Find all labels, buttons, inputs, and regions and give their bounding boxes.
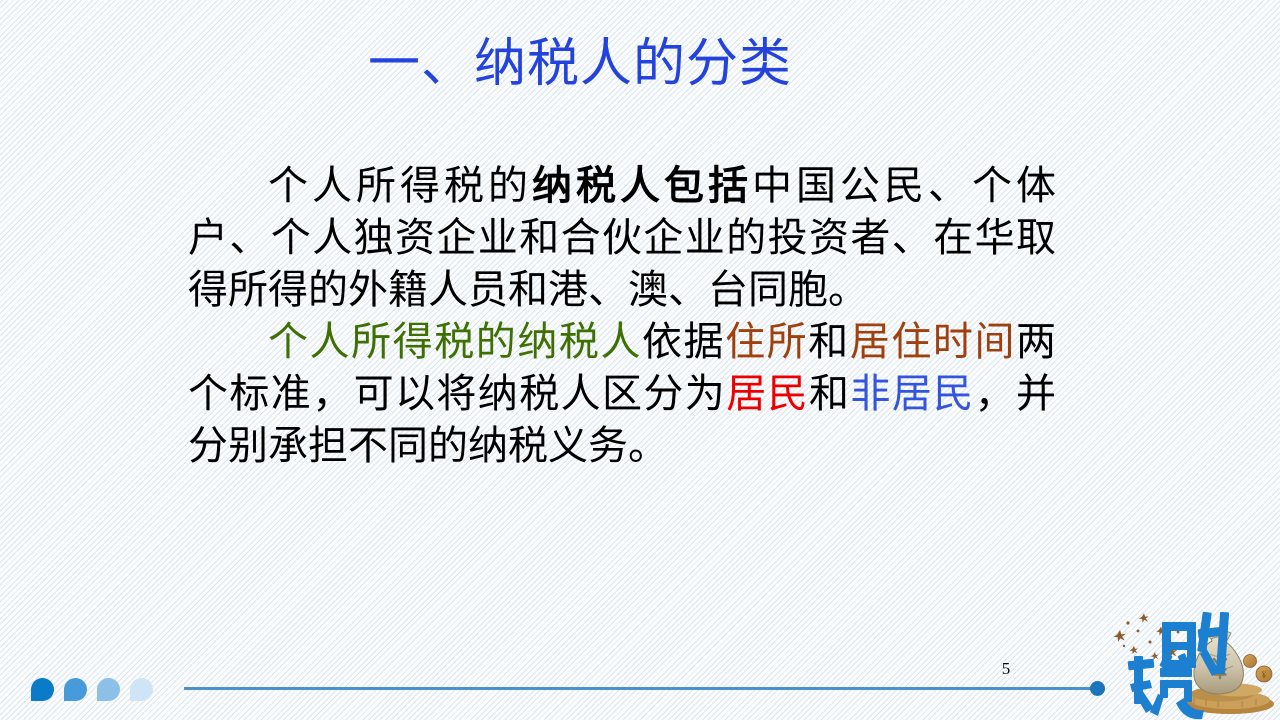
paragraph-1: 个人所得税的纳税人包括中国公民、个体户、个人独资企业和合伙企业的投资者、在华取得… <box>188 160 1056 316</box>
footer-rule <box>184 687 1095 690</box>
p2-run-red-resident: 居民 <box>726 371 809 416</box>
page-title: 一、纳税人的分类 <box>0 34 1160 94</box>
svg-text:¥: ¥ <box>1262 670 1267 680</box>
slide-body: 个人所得税的纳税人包括中国公民、个体户、个人独资企业和合伙企业的投资者、在华取得… <box>188 160 1056 472</box>
dot-icon-1 <box>31 678 54 701</box>
p2-run-brown-duration: 居住时间 <box>850 319 1016 364</box>
slide-canvas: 一、纳税人的分类 个人所得税的纳税人包括中国公民、个体户、个人独资企业和合伙企业… <box>0 0 1280 720</box>
p1-run-bold: 纳税人包括 <box>532 163 752 208</box>
p1-run-normal-1: 个人所得税的 <box>268 163 532 208</box>
dot-icon-4 <box>130 678 153 701</box>
p2-run-brown-residence: 住所 <box>725 319 808 364</box>
footer-dots <box>31 677 153 701</box>
dot-icon-3 <box>97 678 120 701</box>
p2-run-normal-1: 依据 <box>642 319 725 364</box>
page-number: 5 <box>986 659 1026 679</box>
money-bag-logo: ¥ <box>1098 598 1280 720</box>
paragraph-2: 个人所得税的纳税人依据住所和居住时间两个标准，可以将纳税人区分为居民和非居民，并… <box>188 316 1056 472</box>
p2-run-blue-nonresident: 非居民 <box>850 371 974 416</box>
flying-coin-icons: ¥ <box>1244 655 1273 683</box>
dot-icon-2 <box>64 678 87 701</box>
p2-run-green: 个人所得税的纳税人 <box>268 319 642 364</box>
p2-run-normal-4: 和 <box>809 371 850 416</box>
p2-run-normal-2: 和 <box>808 319 850 364</box>
